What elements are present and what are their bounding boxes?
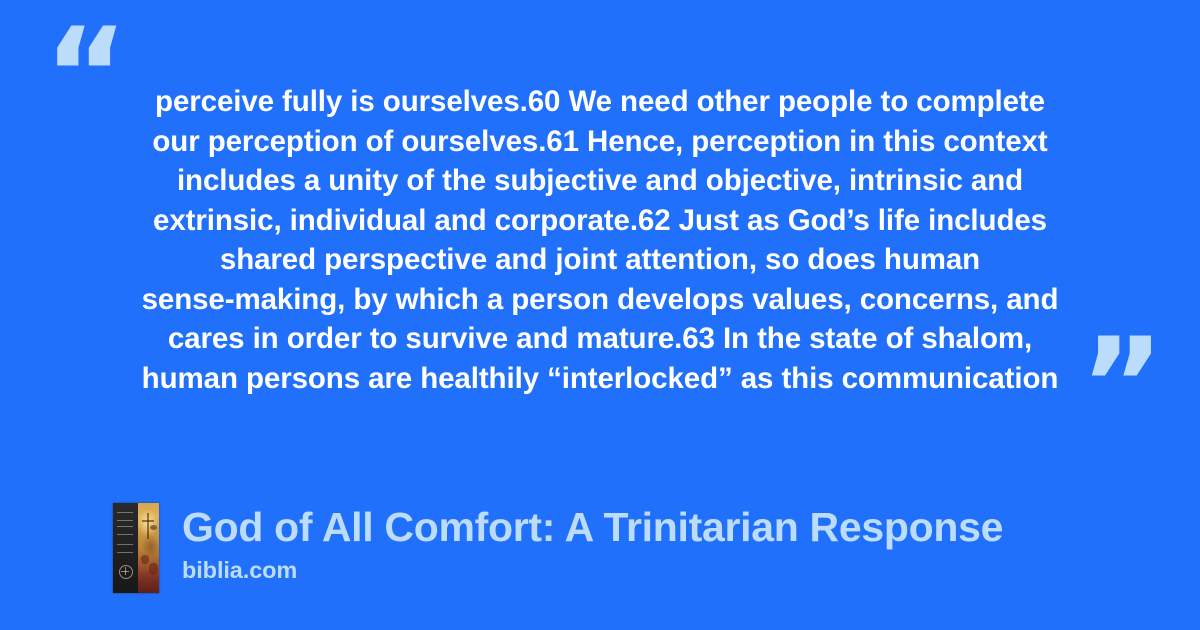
quote-line: human persons are healthily “interlocked… [100, 359, 1100, 399]
artwork-detail [141, 555, 149, 564]
book-cover-thumbnail-icon [113, 503, 159, 593]
quote-line: our perception of ourselves.61 Hence, pe… [100, 122, 1100, 162]
artwork-detail [142, 520, 154, 522]
quote-card: “ perceive fully is ourselves.60 We need… [0, 0, 1200, 630]
book-cover-artwork [138, 503, 159, 593]
spine-text-rule [117, 520, 133, 521]
book-spine-panel [113, 503, 138, 593]
spine-text-rule [117, 512, 133, 513]
publisher-seal-icon [119, 565, 133, 579]
quote-line: includes a unity of the subjective and o… [100, 161, 1100, 201]
spine-text-rule [117, 544, 133, 545]
spine-text-rule [117, 534, 133, 535]
quote-line: extrinsic, individual and corporate.62 J… [100, 201, 1100, 241]
spine-text-rule [117, 526, 133, 527]
quote-line: cares in order to survive and mature.63 … [100, 319, 1100, 359]
quote-line: sense-making, by which a person develops… [100, 280, 1100, 320]
site-name: biblia.com [182, 556, 1003, 584]
artwork-detail [150, 525, 157, 530]
spine-text-rule [117, 552, 133, 553]
quote-line: shared perspective and joint attention, … [100, 240, 1100, 280]
attribution-text: God of All Comfort: A Trinitarian Respon… [182, 503, 1003, 584]
artwork-detail [149, 563, 158, 575]
attribution-footer: God of All Comfort: A Trinitarian Respon… [113, 503, 1003, 593]
artwork-detail [147, 513, 149, 539]
book-title: God of All Comfort: A Trinitarian Respon… [182, 504, 1003, 550]
quote-line: perceive fully is ourselves.60 We need o… [100, 82, 1100, 122]
quote-text-block: perceive fully is ourselves.60 We need o… [100, 82, 1100, 398]
closing-quote-icon: ” [1080, 322, 1162, 450]
